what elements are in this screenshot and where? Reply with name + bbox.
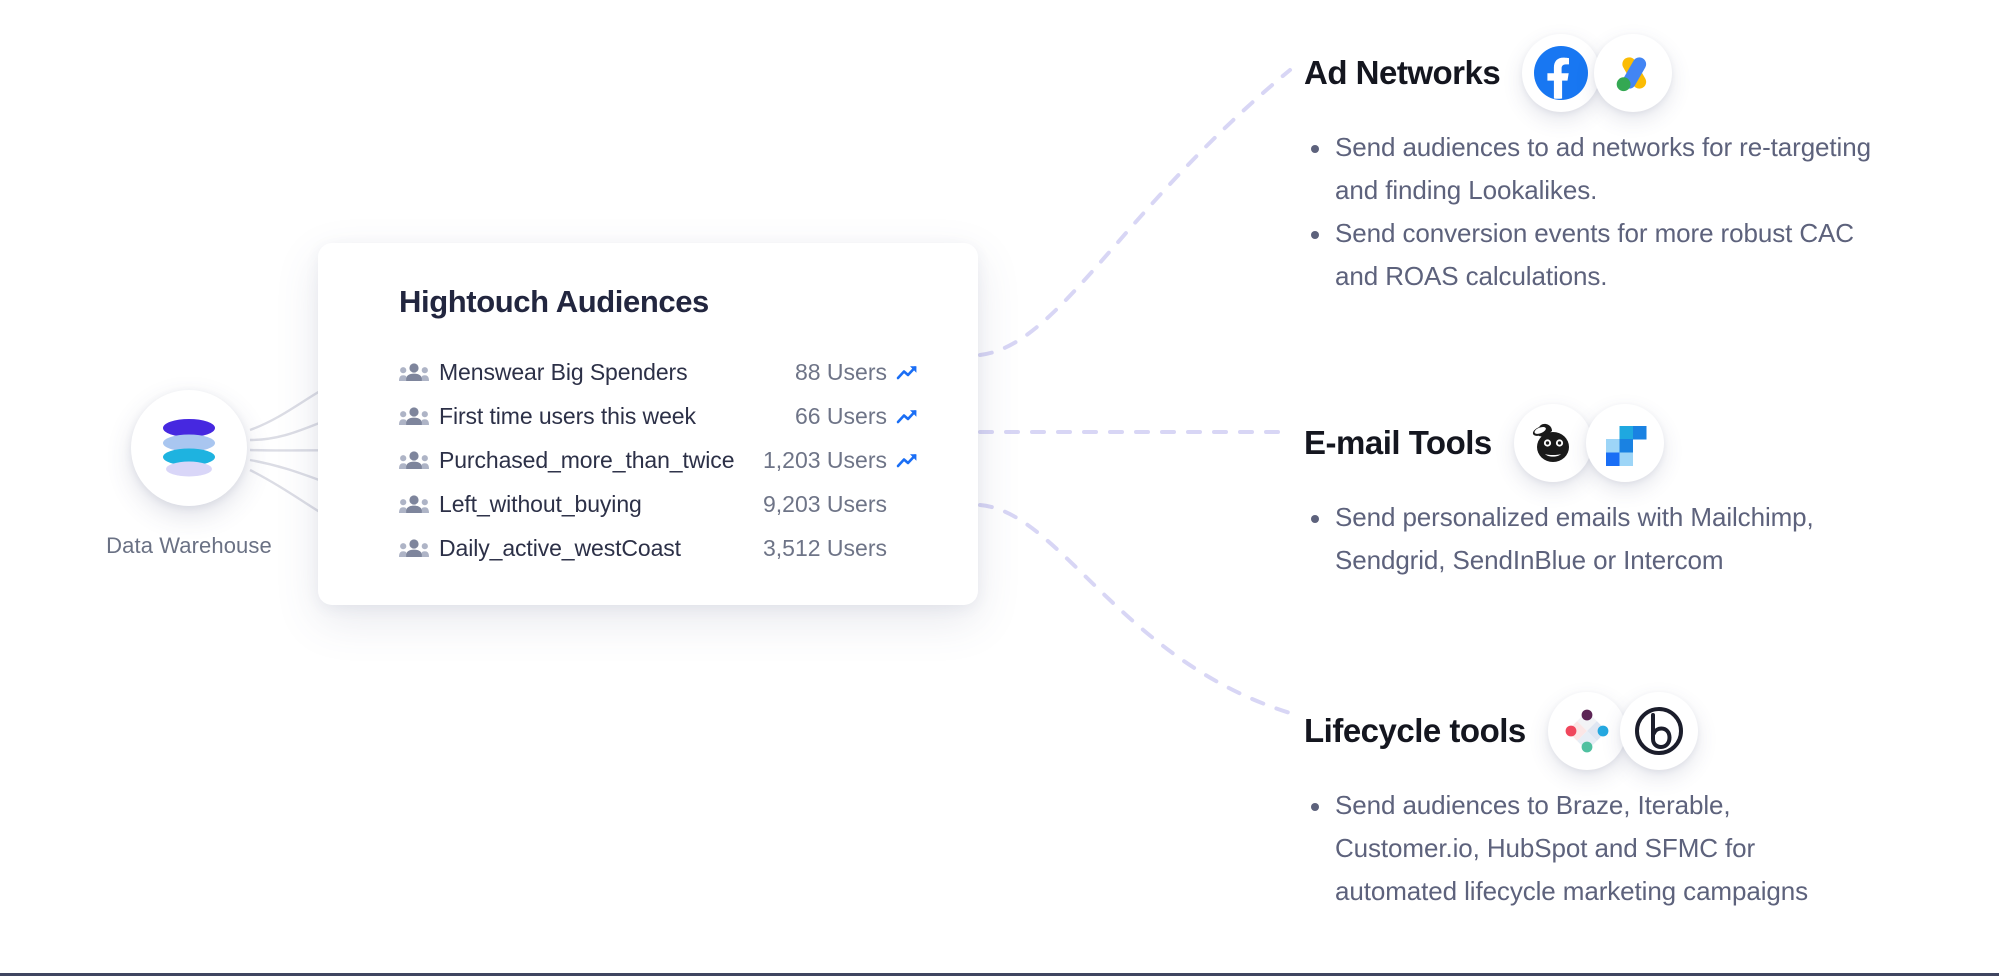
section-title: E-mail Tools bbox=[1304, 424, 1492, 462]
audience-row[interactable]: Left_without_buying 9,203 Users bbox=[399, 482, 919, 526]
people-icon bbox=[399, 362, 429, 382]
audience-name: First time users this week bbox=[439, 403, 696, 430]
audience-metrics: 88 Users bbox=[795, 359, 919, 386]
audience-metrics: 66 Users bbox=[795, 403, 919, 430]
audience-user-count: 9,203 Users bbox=[763, 491, 887, 518]
database-icon bbox=[159, 419, 219, 477]
audience-user-count: 1,203 Users bbox=[763, 447, 887, 474]
audience-row[interactable]: Purchased_more_than_twice 1,203 Users bbox=[399, 438, 919, 482]
section-lifecycle-tools: Lifecycle tools bbox=[1304, 688, 1999, 913]
section-logos bbox=[1548, 692, 1698, 770]
section-logos bbox=[1522, 34, 1672, 112]
people-icon bbox=[399, 406, 429, 426]
section-title: Lifecycle tools bbox=[1304, 712, 1526, 750]
hightouch-audiences-card: Hightouch Audiences Menswear Big Spender… bbox=[318, 243, 978, 605]
audience-metrics: 9,203 Users bbox=[763, 491, 919, 518]
audience-user-count: 66 Users bbox=[795, 403, 887, 430]
section-header: Ad Networks bbox=[1304, 30, 1999, 116]
audience-row[interactable]: First time users this week 66 Users bbox=[399, 394, 919, 438]
section-header: Lifecycle tools bbox=[1304, 688, 1999, 774]
bullet-item: Send audiences to ad networks for re-tar… bbox=[1304, 126, 1874, 212]
data-warehouse-node bbox=[131, 390, 247, 506]
people-icon bbox=[399, 450, 429, 470]
bullet-item: Send audiences to Braze, Iterable, Custo… bbox=[1304, 784, 1874, 913]
audience-user-count: 88 Users bbox=[795, 359, 887, 386]
trending-up-icon[interactable] bbox=[896, 451, 919, 470]
section-title: Ad Networks bbox=[1304, 54, 1500, 92]
facebook-icon[interactable] bbox=[1522, 34, 1600, 112]
mailchimp-icon[interactable] bbox=[1514, 404, 1592, 482]
customerio-icon[interactable] bbox=[1548, 692, 1626, 770]
bullet-item: Send personalized emails with Mailchimp,… bbox=[1304, 496, 1874, 582]
audience-metrics: 3,512 Users bbox=[763, 535, 919, 562]
section-bullets: Send audiences to ad networks for re-tar… bbox=[1304, 126, 1999, 298]
audience-name: Left_without_buying bbox=[439, 491, 642, 518]
section-bullets: Send audiences to Braze, Iterable, Custo… bbox=[1304, 784, 1999, 913]
audience-list: Menswear Big Spenders 88 Users bbox=[399, 350, 919, 570]
audience-name: Menswear Big Spenders bbox=[439, 359, 687, 386]
braze-icon[interactable] bbox=[1620, 692, 1698, 770]
card-title: Hightouch Audiences bbox=[399, 284, 709, 320]
section-header: E-mail Tools bbox=[1304, 400, 1999, 486]
data-warehouse-label: Data Warehouse bbox=[61, 533, 317, 559]
audience-row[interactable]: Menswear Big Spenders 88 Users bbox=[399, 350, 919, 394]
section-email-tools: E-mail Tools bbox=[1304, 400, 1999, 582]
audience-name: Purchased_more_than_twice bbox=[439, 447, 734, 474]
audience-user-count: 3,512 Users bbox=[763, 535, 887, 562]
people-icon bbox=[399, 538, 429, 558]
sendgrid-icon[interactable] bbox=[1586, 404, 1664, 482]
google-ads-icon[interactable] bbox=[1594, 34, 1672, 112]
bullet-item: Send conversion events for more robust C… bbox=[1304, 212, 1874, 298]
section-bullets: Send personalized emails with Mailchimp,… bbox=[1304, 496, 1999, 582]
audience-name: Daily_active_westCoast bbox=[439, 535, 681, 562]
section-logos bbox=[1514, 404, 1664, 482]
audience-row[interactable]: Daily_active_westCoast 3,512 Users bbox=[399, 526, 919, 570]
audience-metrics: 1,203 Users bbox=[763, 447, 919, 474]
trending-up-icon[interactable] bbox=[896, 407, 919, 426]
diagram-canvas: Data Warehouse Hightouch Audiences Mensw… bbox=[0, 0, 1999, 976]
people-icon bbox=[399, 494, 429, 514]
trending-up-icon[interactable] bbox=[896, 363, 919, 382]
section-ad-networks: Ad Networks Send audience bbox=[1304, 30, 1999, 298]
